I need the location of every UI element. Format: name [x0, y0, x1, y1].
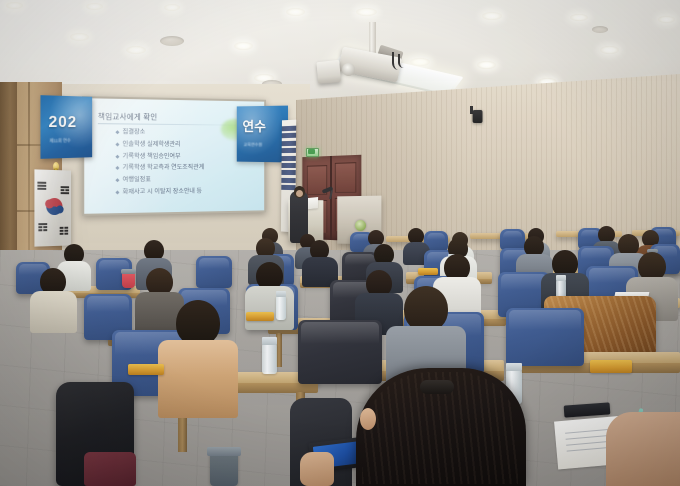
slide-bullet-item: ◆화재사고 시 이탈지 장소안내 등	[115, 188, 262, 196]
exit-running-man-icon	[308, 149, 315, 154]
paper-cup[interactable]	[122, 272, 135, 288]
downlight-icon	[126, 46, 146, 54]
foreground-attendee-right	[606, 412, 680, 486]
handbag	[84, 452, 136, 486]
hair-clip-icon	[420, 380, 454, 394]
wall-speaker-right	[473, 110, 483, 123]
banner-right-text: 연수	[243, 116, 266, 135]
downlight-icon	[286, 8, 305, 16]
slide-bullet-text: 인솔학생 실제학생관리	[123, 142, 181, 149]
presenter-face	[296, 190, 303, 197]
slide-bullet-item: ◆기록학생 학교측과 연도조직관계	[115, 165, 262, 172]
downlight-icon	[70, 33, 89, 41]
cup-lid	[207, 447, 241, 456]
chair[interactable]	[506, 308, 584, 366]
chair[interactable]	[500, 229, 525, 250]
podium-emblem-icon	[355, 220, 366, 231]
slide-bullet-text: 기록학생 책임승인여부	[123, 154, 181, 161]
downlight-icon	[164, 4, 180, 11]
bullet-dot-icon: ◆	[115, 166, 119, 172]
slide-bullet-item: ◆여행일정표	[115, 177, 262, 185]
snack-pack[interactable]	[246, 312, 274, 321]
ceiling-vent-icon	[160, 36, 184, 46]
banner-right-subtitle: 교육연수원	[243, 142, 262, 148]
downlight-icon	[6, 2, 23, 9]
banner-right-training: 연수 교육연수원	[237, 106, 288, 163]
bullet-dot-icon: ◆	[115, 141, 119, 147]
downlight-icon	[482, 12, 502, 20]
banner-left-subtitle: 제11회 연수	[49, 138, 70, 144]
downlight-icon	[477, 61, 496, 69]
water-bottle[interactable]	[276, 296, 286, 320]
downlight-icon	[86, 3, 103, 10]
snack-pack[interactable]	[418, 268, 438, 275]
cup-lid	[121, 269, 136, 274]
chair[interactable]	[196, 256, 232, 288]
attendee-body	[30, 291, 77, 333]
banner-year-text: 202	[48, 114, 77, 132]
slide-title: 책임교사에게 확인	[98, 111, 247, 124]
paper-cup[interactable]	[210, 452, 238, 486]
bullet-dot-icon: ◆	[115, 154, 119, 160]
attendee-body	[158, 340, 238, 418]
downlight-icon	[234, 42, 253, 50]
slide-bullet-text: 화재사고 시 이탈지 장소안내 등	[123, 189, 202, 196]
wall-speaker-front	[316, 60, 341, 84]
flag-shading	[34, 169, 71, 246]
lecture-hall-photo: 책임교사에게 확인 ◆집결장소 ◆인솔학생 실제학생관리 ◆기록학생 책임승인여…	[0, 0, 680, 486]
ceiling-vent-icon	[592, 26, 608, 33]
slide-bullet-text: 기록학생 학교측과 연도조직관계	[123, 165, 205, 172]
bottle-cap	[556, 275, 566, 281]
bottle-cap	[262, 337, 277, 345]
snack-pack[interactable]	[590, 360, 632, 373]
downlight-icon	[356, 8, 377, 16]
slide-bullet-text: 집결장소	[123, 130, 146, 137]
bullet-dot-icon: ◆	[115, 178, 119, 184]
snack-pack[interactable]	[128, 364, 164, 375]
bullet-dot-icon: ◆	[115, 129, 119, 135]
banner-left-year: 202 제11회 연수	[40, 95, 92, 159]
projector-cable	[398, 54, 412, 68]
attendee-body	[245, 286, 294, 330]
slide-bullet-text: 여행일정표	[123, 177, 151, 184]
chair[interactable]	[298, 320, 382, 384]
foreground-attendee-ear	[360, 408, 376, 430]
water-bottle[interactable]	[262, 344, 277, 374]
downlight-icon	[570, 14, 588, 21]
bottle-cap	[276, 291, 286, 297]
downlight-icon	[658, 16, 675, 23]
attendee-hand	[300, 452, 334, 486]
bottle-cap	[506, 363, 522, 371]
downlight-icon	[600, 46, 619, 54]
bullet-dot-icon: ◆	[115, 190, 119, 196]
